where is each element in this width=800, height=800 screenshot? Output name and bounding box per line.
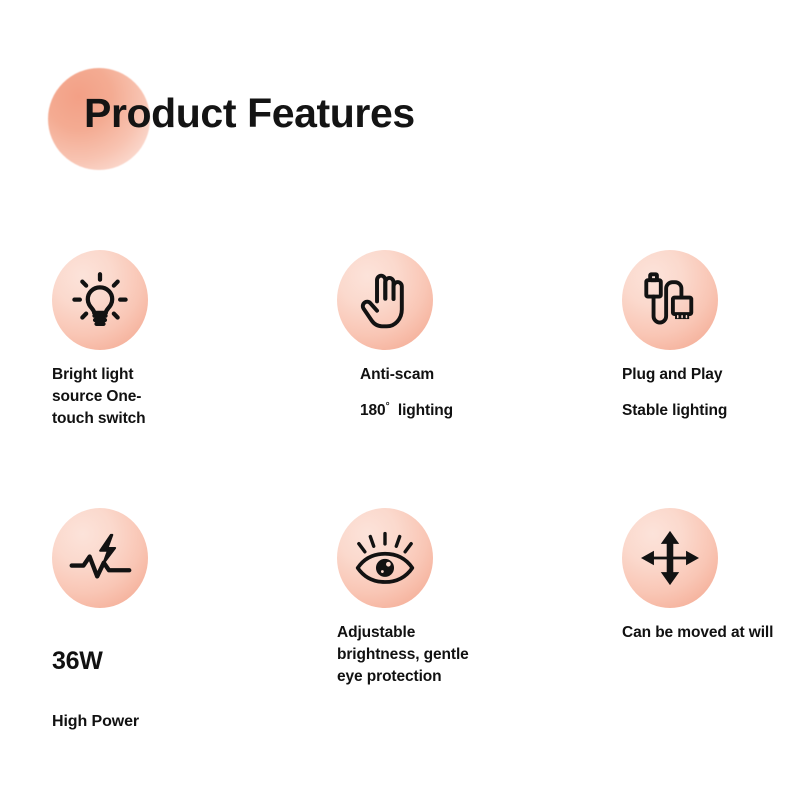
power-rating-label: High Power bbox=[52, 711, 302, 734]
feature-item-anti-scam: Anti-scam 180° lighting bbox=[337, 250, 587, 422]
usb-cable-plug-icon bbox=[622, 250, 718, 350]
feature-row-2: 36W High Power Adjustable brig bbox=[0, 508, 800, 766]
caption-line: brightness, gentle bbox=[337, 644, 587, 666]
feature-grid: Bright light source One- touch switch An… bbox=[0, 250, 800, 766]
feature-caption: Bright light source One- touch switch bbox=[52, 364, 302, 430]
feature-item-high-power: 36W High Power bbox=[52, 508, 302, 733]
page-header: Product Features bbox=[0, 62, 800, 182]
move-arrows-icon bbox=[622, 508, 718, 608]
feature-item-movable: Can be moved at will bbox=[622, 508, 800, 644]
eye-icon bbox=[337, 508, 433, 608]
degree-symbol: ° bbox=[386, 401, 390, 412]
caption-line: source One- bbox=[52, 386, 302, 408]
feature-row-1: Bright light source One- touch switch An… bbox=[0, 250, 800, 508]
power-rating-value: 36W bbox=[52, 644, 302, 680]
feature-caption: Adjustable brightness, gentle eye protec… bbox=[337, 622, 587, 688]
feature-item-plug-and-play: Plug and Play Stable lighting bbox=[622, 250, 800, 422]
caption-line: Can be moved at will bbox=[622, 622, 800, 644]
lighting-angle-label: lighting bbox=[398, 402, 453, 419]
feature-item-eye-protection: Adjustable brightness, gentle eye protec… bbox=[337, 508, 587, 688]
power-rating-wrap: 36W bbox=[52, 624, 302, 680]
caption-line: Adjustable bbox=[337, 622, 587, 644]
light-bulb-icon bbox=[52, 250, 148, 350]
caption-line: touch switch bbox=[52, 408, 302, 430]
feature-caption: Can be moved at will bbox=[622, 622, 800, 644]
feature-caption: 36W High Power bbox=[52, 622, 302, 733]
caption-line: eye protection bbox=[337, 666, 587, 688]
caption-line: Bright light bbox=[52, 364, 302, 386]
caption-secondary: Stable lighting bbox=[622, 400, 800, 422]
caption-secondary: 180° lighting bbox=[360, 400, 587, 422]
caption-line: Plug and Play bbox=[622, 364, 800, 386]
power-waveform-bolt-icon bbox=[52, 508, 148, 608]
feature-caption: Plug and Play Stable lighting bbox=[622, 364, 800, 422]
lighting-angle-value: 180 bbox=[360, 402, 386, 419]
power-rating-label-wrap: High Power bbox=[52, 682, 302, 734]
open-hand-icon bbox=[337, 250, 433, 350]
feature-item-bright-light: Bright light source One- touch switch bbox=[52, 250, 302, 430]
feature-caption: Anti-scam 180° lighting bbox=[337, 364, 587, 422]
caption-line: Anti-scam bbox=[360, 364, 587, 386]
page-title: Product Features bbox=[84, 90, 415, 137]
